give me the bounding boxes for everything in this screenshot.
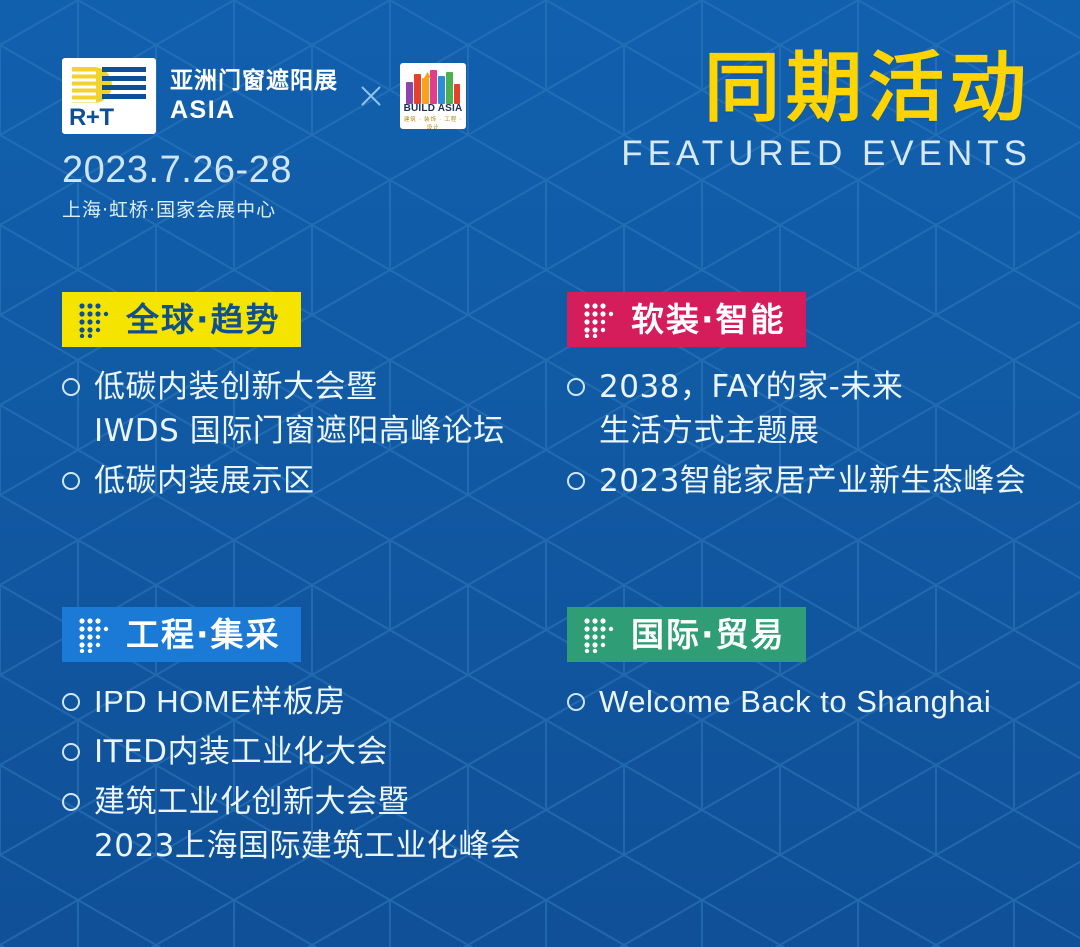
bullet-circle-icon xyxy=(62,472,80,490)
section-badge-label: 软装·智能 xyxy=(631,303,786,336)
dot-matrix-icon xyxy=(583,617,617,653)
header: R+T 亚洲门窗遮阳展 ASIA BUILD AS xyxy=(62,58,466,222)
section-badge-global-trends[interactable]: 全球·趋势 xyxy=(62,292,301,347)
section-soft-decor-smart: 软装·智能 2038，FAY的家-未来 生活方式主题展 2023智能家居产业新生… xyxy=(567,292,1047,509)
sections-row-1: 全球·趋势 低碳内装创新大会暨 IWDS 国际门窗遮阳高峰论坛 低碳内装展示区 xyxy=(62,292,1047,509)
x-cross-icon xyxy=(358,83,384,109)
logo-row: R+T 亚洲门窗遮阳展 ASIA BUILD AS xyxy=(62,58,466,134)
section-global-trends: 全球·趋势 低碳内装创新大会暨 IWDS 国际门窗遮阳高峰论坛 低碳内装展示区 xyxy=(62,292,567,509)
list-item-text: 2038，FAY的家-未来 生活方式主题展 xyxy=(599,365,903,453)
section-badge-label: 工程·集采 xyxy=(126,618,281,651)
section-international-trade: 国际·贸易 Welcome Back to Shanghai xyxy=(567,607,1047,874)
build-asia-logo-subtext: 建筑 · 装饰 · 工程 · 设计 xyxy=(400,115,466,129)
section-engineering-procurement: 工程·集采 IPD HOME样板房 ITED内装工业化大会 建筑工业化创新大会暨… xyxy=(62,607,567,874)
rt-logo-name-cn: 亚洲门窗遮阳展 xyxy=(170,67,338,96)
sections-grid: 全球·趋势 低碳内装创新大会暨 IWDS 国际门窗遮阳高峰论坛 低碳内装展示区 xyxy=(62,292,1047,874)
page-title-cn: 同期活动 xyxy=(621,48,1032,128)
rt-logo-name-en: ASIA xyxy=(170,96,338,125)
section-badge-label: 全球·趋势 xyxy=(126,303,281,336)
page-title: 同期活动 FEATURED EVENTS xyxy=(621,48,1032,174)
bullet-circle-icon xyxy=(567,378,585,396)
section-list-global-trends: 低碳内装创新大会暨 IWDS 国际门窗遮阳高峰论坛 低碳内装展示区 xyxy=(62,365,567,503)
section-list-engineering-procurement: IPD HOME样板房 ITED内装工业化大会 建筑工业化创新大会暨 2023上… xyxy=(62,680,567,868)
section-list-soft-decor-smart: 2038，FAY的家-未来 生活方式主题展 2023智能家居产业新生态峰会 xyxy=(567,365,1047,503)
section-badge-engineering-procurement[interactable]: 工程·集采 xyxy=(62,607,301,662)
build-asia-logo: BUILD ASIA 建筑 · 装饰 · 工程 · 设计 xyxy=(400,63,466,129)
list-item[interactable]: 2038，FAY的家-未来 生活方式主题展 xyxy=(567,365,1047,453)
list-item-text: 2023智能家居产业新生态峰会 xyxy=(599,459,1026,503)
list-item-text: Welcome Back to Shanghai xyxy=(599,680,991,724)
section-badge-soft-decor-smart[interactable]: 软装·智能 xyxy=(567,292,806,347)
list-item[interactable]: Welcome Back to Shanghai xyxy=(567,680,1047,724)
list-item[interactable]: 建筑工业化创新大会暨 2023上海国际建筑工业化峰会 xyxy=(62,780,567,868)
dot-matrix-icon xyxy=(78,617,112,653)
event-date: 2023.7.26-28 xyxy=(62,150,466,191)
section-badge-international-trade[interactable]: 国际·贸易 xyxy=(567,607,806,662)
list-item-text: 低碳内装创新大会暨 IWDS 国际门窗遮阳高峰论坛 xyxy=(94,365,505,453)
bullet-circle-icon xyxy=(62,693,80,711)
list-item[interactable]: 低碳内装展示区 xyxy=(62,459,567,503)
rt-asia-logo-icon xyxy=(70,65,148,105)
build-asia-logo-icon xyxy=(404,68,462,104)
rt-asia-logo: R+T xyxy=(62,58,156,134)
bullet-circle-icon xyxy=(62,378,80,396)
list-item-text: ITED内装工业化大会 xyxy=(94,730,388,774)
list-item-text: IPD HOME样板房 xyxy=(94,680,346,724)
event-venue: 上海·虹桥·国家会展中心 xyxy=(62,195,466,222)
dot-matrix-icon xyxy=(78,302,112,338)
section-badge-label: 国际·贸易 xyxy=(631,618,786,651)
rt-logo-mark-text: R+T xyxy=(69,106,114,130)
dot-matrix-icon xyxy=(583,302,617,338)
list-item[interactable]: IPD HOME样板房 xyxy=(62,680,567,724)
list-item-text: 低碳内装展示区 xyxy=(94,459,315,503)
build-asia-logo-text: BUILD ASIA xyxy=(400,103,466,114)
bullet-circle-icon xyxy=(567,693,585,711)
list-item-text: 建筑工业化创新大会暨 2023上海国际建筑工业化峰会 xyxy=(94,780,521,868)
list-item[interactable]: ITED内装工业化大会 xyxy=(62,730,567,774)
list-item[interactable]: 低碳内装创新大会暨 IWDS 国际门窗遮阳高峰论坛 xyxy=(62,365,567,453)
bullet-circle-icon xyxy=(62,743,80,761)
list-item[interactable]: 2023智能家居产业新生态峰会 xyxy=(567,459,1047,503)
page-title-en: FEATURED EVENTS xyxy=(621,134,1032,174)
bullet-circle-icon xyxy=(567,472,585,490)
rt-logo-names: 亚洲门窗遮阳展 ASIA xyxy=(170,67,338,125)
bullet-circle-icon xyxy=(62,793,80,811)
section-list-international-trade: Welcome Back to Shanghai xyxy=(567,680,1047,724)
sections-row-2: 工程·集采 IPD HOME样板房 ITED内装工业化大会 建筑工业化创新大会暨… xyxy=(62,607,1047,874)
